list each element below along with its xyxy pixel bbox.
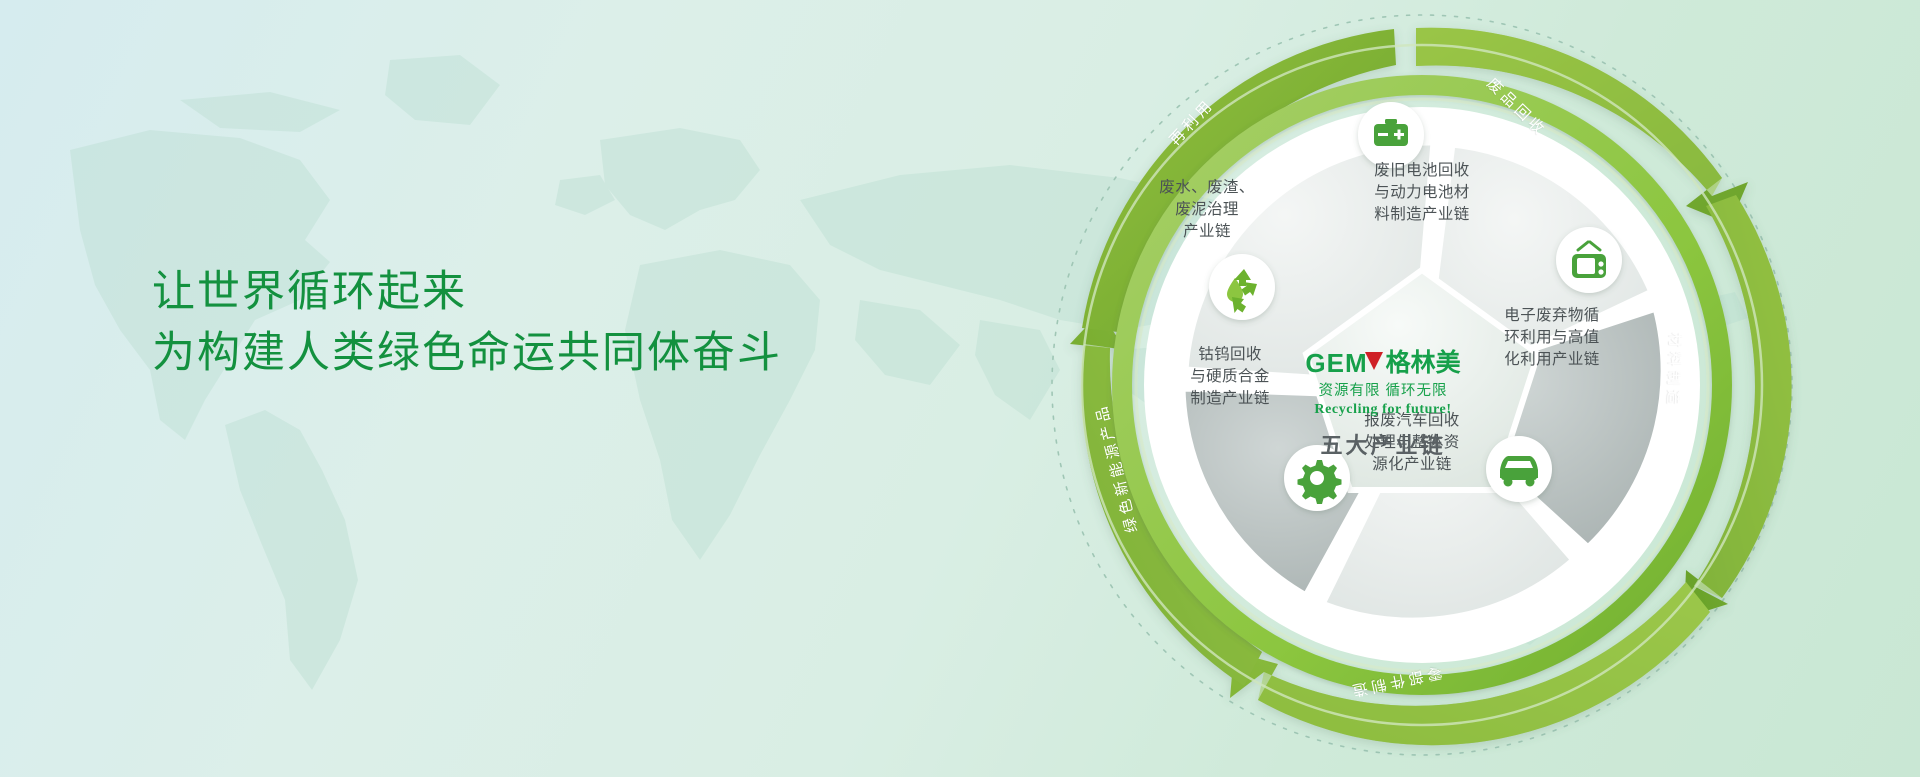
logo-slogan: 资源有限 循环无限 [1288,379,1478,400]
headline-line-2: 为构建人类绿色命运共同体奋斗 [152,323,782,384]
logo-chinese-text: 格林美 [1386,350,1461,376]
headline: 让世界循环起来 为构建人类绿色命运共同体奋斗 [152,262,782,384]
logo-wordmark: GEM格林美 [1288,350,1478,376]
logo-triangle-icon [1365,352,1383,370]
ring-label-material-manufacturing: 材料制造 [1663,332,1687,409]
chain-label-waste-water: 废水、废渣、 废泥治理 产业链 [1122,177,1292,243]
icon-bubble-recycle-drop [1209,254,1275,320]
chain-label-e-waste: 电子废弃物循 环利用与高值 化利用产业链 [1462,305,1642,371]
gem-logo: GEM格林美 资源有限 循环无限 Recycling for future! [1288,350,1478,418]
headline-line-1: 让世界循环起来 [152,262,782,323]
icon-bubble-battery [1358,102,1424,168]
icon-bubble-television [1556,227,1622,293]
center-subtitle: 五大产业链 [1288,428,1478,460]
chain-label-battery: 废旧电池回收 与动力电池材 料制造产业链 [1332,160,1512,226]
banner-root: 让世界循环起来 为构建人类绿色命运共同体奋斗 [0,0,1920,777]
logo-slogan-en: Recycling for future! [1288,402,1478,418]
logo-latin-text: GEM [1305,350,1367,376]
